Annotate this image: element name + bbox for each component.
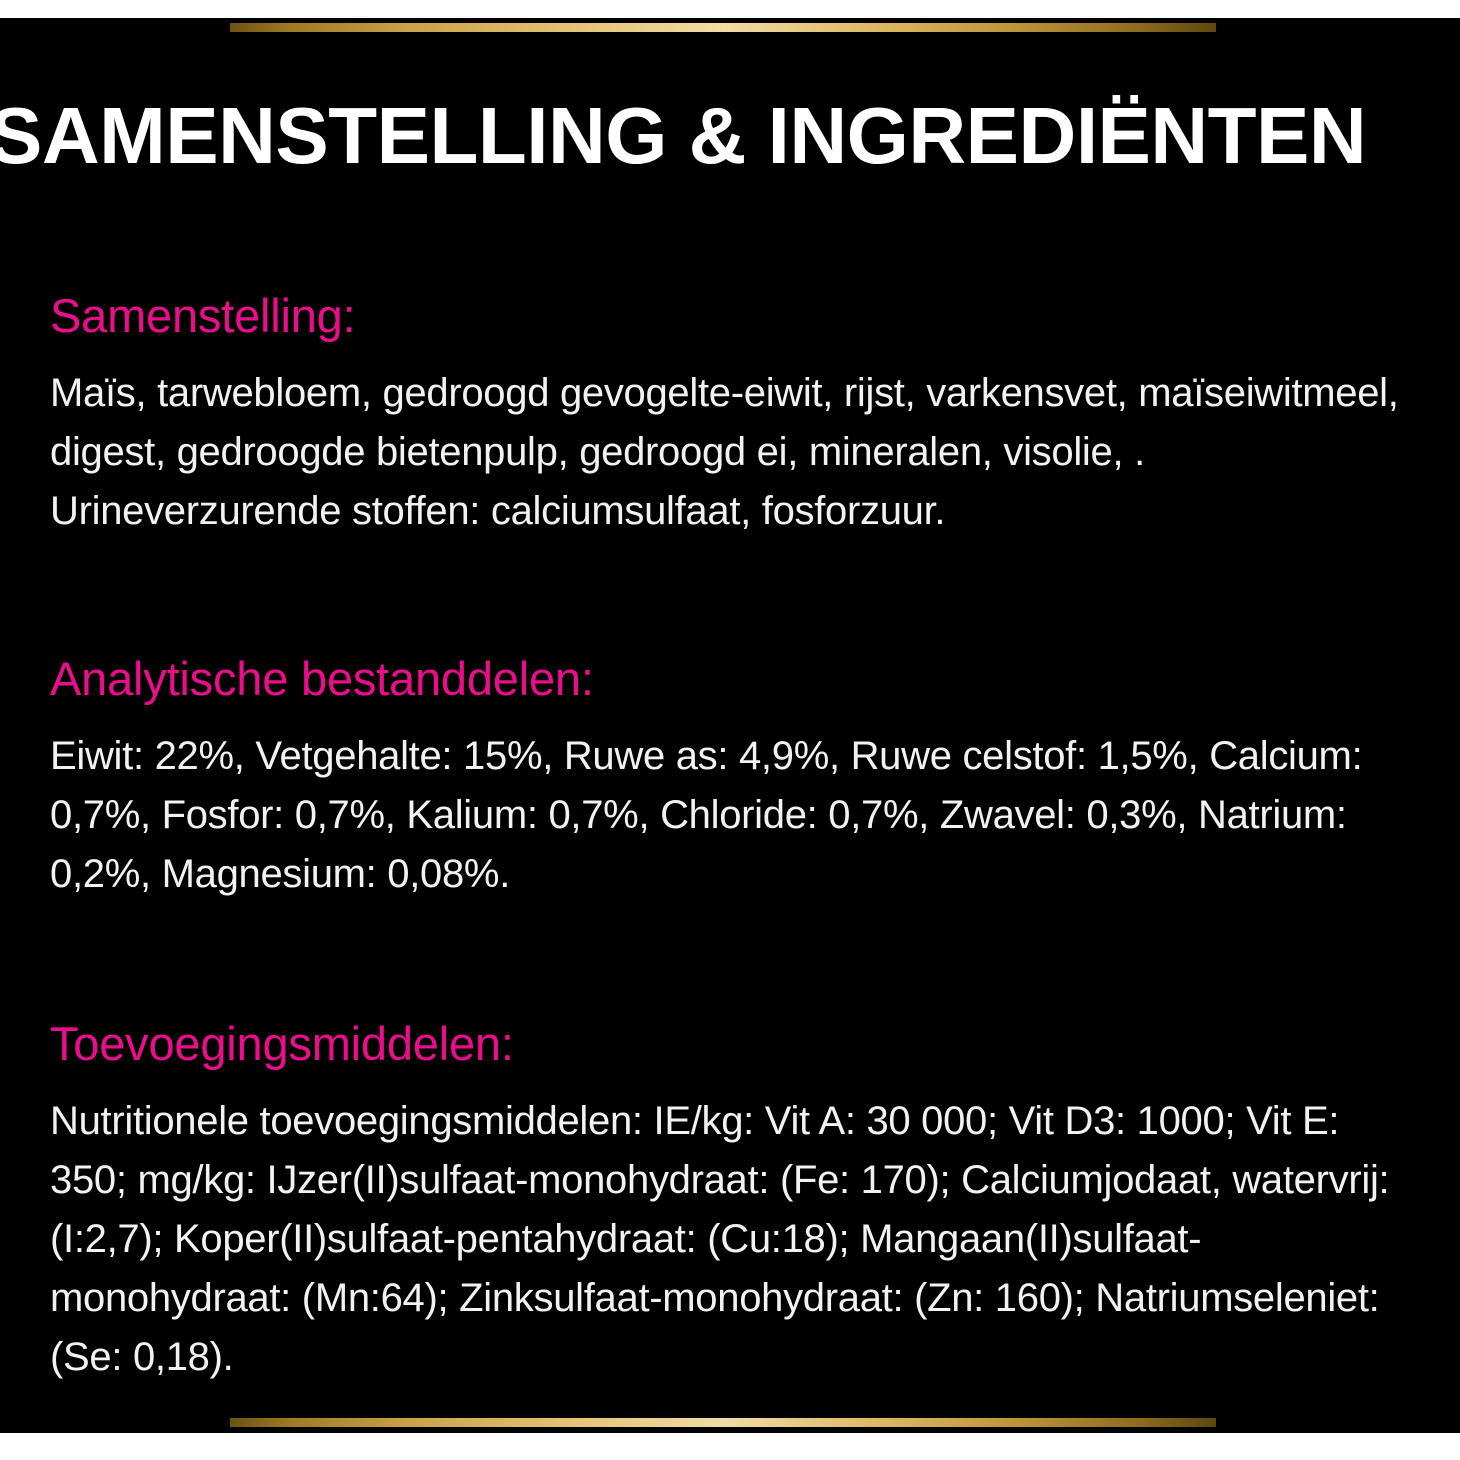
gold-divider-bottom	[230, 1418, 1216, 1427]
section-toevoegingsmiddelen: Toevoegingsmiddelen: Nutritionele toevoe…	[50, 1014, 1420, 1387]
section-body-toevoegingsmiddelen: Nutritionele toevoegingsmiddelen: IE/kg:…	[50, 1092, 1415, 1387]
section-body-samenstelling: Maïs, tarwebloem, gedroogd gevogelte-eiw…	[50, 364, 1415, 541]
gold-divider-top	[230, 23, 1216, 32]
section-spacer-2	[50, 938, 1420, 1014]
section-heading-toevoegingsmiddelen: Toevoegingsmiddelen:	[50, 1014, 1420, 1074]
section-body-analytische-bestanddelen: Eiwit: 22%, Vetgehalte: 15%, Ruwe as: 4,…	[50, 727, 1415, 904]
section-spacer-1	[50, 575, 1420, 649]
section-analytische-bestanddelen: Analytische bestanddelen: Eiwit: 22%, Ve…	[50, 649, 1420, 904]
sections-container: Samenstelling: Maïs, tarwebloem, gedroog…	[50, 286, 1420, 1387]
banner-title-container: SAMENSTELLING & INGREDIËNTEN	[0, 84, 1460, 194]
black-panel: SAMENSTELLING & INGREDIËNTEN Samenstelli…	[0, 18, 1460, 1433]
section-samenstelling: Samenstelling: Maïs, tarwebloem, gedroog…	[50, 286, 1420, 541]
section-heading-analytische-bestanddelen: Analytische bestanddelen:	[50, 649, 1420, 709]
ingredient-panel-page: SAMENSTELLING & INGREDIËNTEN Samenstelli…	[0, 0, 1460, 1460]
page-title: SAMENSTELLING & INGREDIËNTEN	[0, 84, 1366, 188]
section-heading-samenstelling: Samenstelling:	[50, 286, 1420, 346]
